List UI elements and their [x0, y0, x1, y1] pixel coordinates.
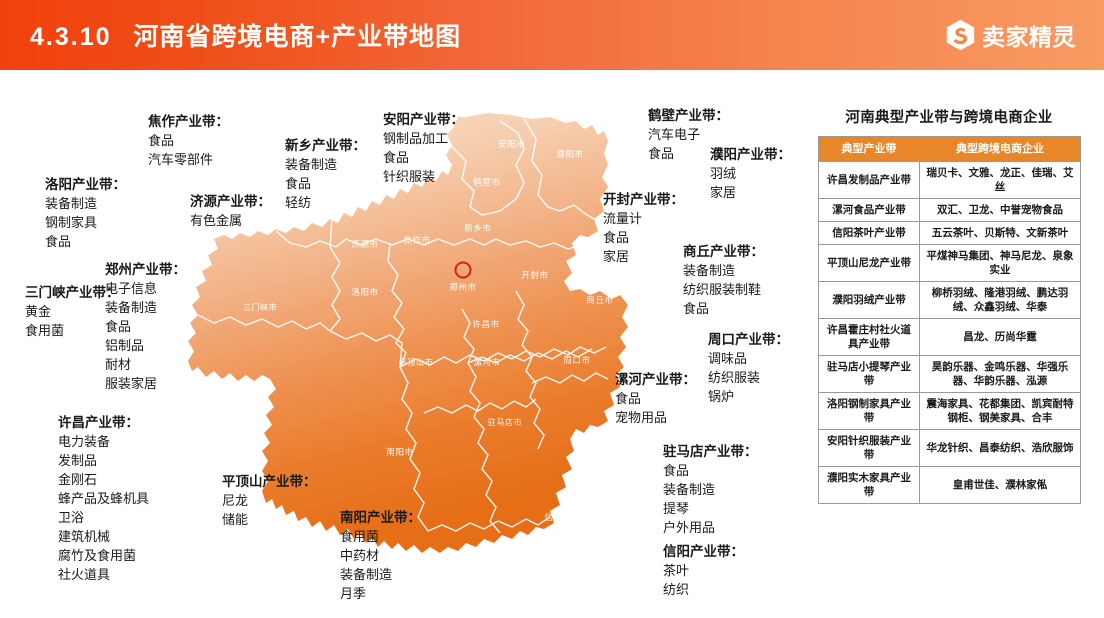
callout-item: 装备制造 [340, 565, 421, 584]
callout-item: 轻纺 [285, 193, 366, 212]
map-city-label: 开封市 [521, 270, 548, 280]
callout-item: 服装家居 [105, 374, 186, 393]
table-row: 许昌发制品产业带瑞贝卡、文雅、龙正、佳瑞、艾丝 [819, 162, 1081, 199]
callout-title: 鹤壁产业带： [648, 106, 729, 125]
industry-belt-table: 典型产业带 典型跨境电商企业 许昌发制品产业带瑞贝卡、文雅、龙正、佳瑞、艾丝漯河… [818, 136, 1081, 504]
callout-item: 装备制造 [683, 261, 764, 280]
callout-title: 信阳产业带： [663, 542, 744, 561]
callout-item: 蜂产品及蜂机具 [58, 489, 149, 508]
callout-item: 中药材 [340, 546, 421, 565]
brand-logo: 卖家精灵 [946, 18, 1076, 52]
callout-item: 纺织服装 [708, 368, 789, 387]
callout-item: 有色金属 [190, 211, 271, 230]
callout-item: 月季 [340, 584, 421, 603]
map-city-label: 商丘市 [586, 295, 613, 305]
callout-puyang: 濮阳产业带：羽绒家居 [710, 145, 791, 202]
callout-title: 洛阳产业带： [45, 175, 126, 194]
callout-title: 开封产业带： [603, 190, 684, 209]
callout-item: 装备制造 [663, 480, 758, 499]
callout-title: 郑州产业带： [105, 260, 186, 279]
callout-title: 商丘产业带： [683, 242, 764, 261]
callout-title: 驻马店产业带： [663, 442, 758, 461]
callout-item: 调味品 [708, 349, 789, 368]
map-city-label: 南阳市 [386, 447, 413, 457]
cell-enterprises: 五云茶叶、贝斯特、文新茶叶 [920, 222, 1081, 245]
cell-enterprises: 昊韵乐器、金鸣乐器、华强乐器、华韵乐器、泓源 [920, 356, 1081, 393]
title-text: 河南省跨境电商+产业带地图 [134, 23, 462, 51]
table-row: 驻马店小提琴产业带昊韵乐器、金鸣乐器、华强乐器、华韵乐器、泓源 [819, 356, 1081, 393]
callout-luoyang: 洛阳产业带：装备制造钢制家具食品 [45, 175, 126, 251]
callout-title: 三门峡产业带： [25, 283, 120, 302]
callout-item: 食品 [148, 131, 229, 150]
cell-industry-belt: 平顶山尼龙产业带 [819, 245, 920, 282]
callout-sanmenxia: 三门峡产业带：黄金食用菌 [25, 283, 120, 340]
cell-industry-belt: 许昌霍庄村社火道具产业带 [819, 319, 920, 356]
callout-item: 食品 [383, 148, 464, 167]
section-number: 4.3.10 [30, 23, 112, 51]
cell-industry-belt: 驻马店小提琴产业带 [819, 356, 920, 393]
map-city-label: 信阳市 [544, 512, 571, 522]
callout-item: 汽车电子 [648, 125, 729, 144]
callout-item: 食品 [663, 461, 758, 480]
hexagon-s-icon [946, 19, 975, 51]
map-city-label: 鹤壁市 [473, 177, 500, 187]
callout-item: 社火道具 [58, 565, 149, 584]
callout-title: 焦作产业带： [148, 112, 229, 131]
callout-item: 腐竹及食用菌 [58, 546, 149, 565]
callout-nanyang: 南阳产业带：食用菌中药材装备制造月季 [340, 508, 421, 603]
callout-pingdingshan: 平顶山产业带：尼龙储能 [222, 472, 317, 529]
callout-item: 电力装备 [58, 432, 149, 451]
callout-item: 纺织 [663, 580, 744, 599]
callout-title: 南阳产业带： [340, 508, 421, 527]
map-city-label: 洛阳市 [351, 287, 378, 297]
brand-name: 卖家精灵 [982, 18, 1076, 52]
callout-shangqiu: 商丘产业带：装备制造纺织服装制鞋食品 [683, 242, 764, 318]
column-header-enterprises: 典型跨境电商企业 [920, 137, 1081, 162]
callout-title: 濮阳产业带： [710, 145, 791, 164]
callout-item: 流量计 [603, 209, 684, 228]
table-row: 许昌霍庄村社火道具产业带昌龙、历尚华霆 [819, 319, 1081, 356]
cell-enterprises: 昌龙、历尚华霆 [920, 319, 1081, 356]
cell-enterprises: 震海家具、花都集团、凯宾耐特钢柜、钢美家具、合丰 [920, 393, 1081, 430]
map-city-label: 濮阳市 [556, 149, 583, 159]
callout-anyang: 安阳产业带：钢制品加工食品针织服装 [383, 110, 464, 186]
callout-item: 针织服装 [383, 167, 464, 186]
cell-industry-belt: 许昌发制品产业带 [819, 162, 920, 199]
callout-item: 食用菌 [25, 321, 120, 340]
callout-luohe: 漯河产业带：食品宠物用品 [615, 370, 696, 427]
cell-enterprises: 华龙针织、昌泰纺织、浩欣服饰 [920, 430, 1081, 467]
callout-item: 装备制造 [45, 194, 126, 213]
map-city-label: 新乡市 [464, 223, 491, 233]
table-body: 许昌发制品产业带瑞贝卡、文雅、龙正、佳瑞、艾丝漯河食品产业带双汇、卫龙、中誉宠物… [819, 162, 1081, 504]
callout-item: 尼龙 [222, 491, 317, 510]
cell-industry-belt: 安阳针织服装产业带 [819, 430, 920, 467]
cell-enterprises: 柳桥羽绒、隆港羽绒、鹏达羽绒、众鑫羽绒、华泰 [920, 282, 1081, 319]
callout-item: 羽绒 [710, 164, 791, 183]
map-city-label: 三门峡市 [243, 302, 277, 312]
callout-item: 储能 [222, 510, 317, 529]
cell-industry-belt: 信阳茶叶产业带 [819, 222, 920, 245]
callout-item: 食用菌 [340, 527, 421, 546]
page-title: 4.3.10河南省跨境电商+产业带地图 [30, 17, 461, 53]
map-city-label: 漯河市 [473, 357, 500, 367]
callout-item: 食品 [603, 228, 684, 247]
callout-item: 黄金 [25, 302, 120, 321]
callout-jiaozuo: 焦作产业带：食品汽车零部件 [148, 112, 229, 169]
map-city-label: 周口市 [563, 355, 590, 365]
cell-enterprises: 平煤神马集团、神马尼龙、泉象实业 [920, 245, 1081, 282]
industry-belt-table-panel: 河南典型产业带与跨境电商企业 典型产业带 典型跨境电商企业 许昌发制品产业带瑞贝… [818, 106, 1080, 504]
callout-item: 汽车零部件 [148, 150, 229, 169]
callout-item: 发制品 [58, 451, 149, 470]
callout-item: 食品 [285, 174, 366, 193]
cell-enterprises: 双汇、卫龙、中誉宠物食品 [920, 199, 1081, 222]
callout-item: 金刚石 [58, 470, 149, 489]
callout-kaifeng: 开封产业带：流量计食品家居 [603, 190, 684, 266]
callout-item: 纺织服装制鞋 [683, 280, 764, 299]
callout-title: 安阳产业带： [383, 110, 464, 129]
callout-item: 提琴 [663, 499, 758, 518]
callout-item: 钢制品加工 [383, 129, 464, 148]
cell-industry-belt: 濮阳羽绒产业带 [819, 282, 920, 319]
callout-item: 食品 [45, 232, 126, 251]
callout-jiyuan: 济源产业带：有色金属 [190, 192, 271, 230]
map-city-label: 郑州市 [449, 282, 476, 292]
callout-xuchang: 许昌产业带：电力装备发制品金刚石蜂产品及蜂机具卫浴建筑机械腐竹及食用菌社火道具 [58, 413, 149, 584]
callout-item: 钢制家具 [45, 213, 126, 232]
callout-item: 食品 [683, 299, 764, 318]
map-city-label: 平顶山市 [399, 357, 433, 367]
callout-item: 茶叶 [663, 561, 744, 580]
map-city-label: 许昌市 [472, 319, 499, 329]
callout-item: 家居 [603, 247, 684, 266]
callout-xinyang: 信阳产业带：茶叶纺织 [663, 542, 744, 599]
callout-title: 许昌产业带： [58, 413, 149, 432]
callout-item: 装备制造 [285, 155, 366, 174]
column-header-belt: 典型产业带 [819, 137, 920, 162]
page-header: 4.3.10河南省跨境电商+产业带地图 卖家精灵 [0, 0, 1104, 70]
table-header-row: 典型产业带 典型跨境电商企业 [819, 137, 1081, 162]
callout-item: 卫浴 [58, 508, 149, 527]
callout-zhoukou: 周口产业带：调味品纺织服装锅炉 [708, 330, 789, 406]
map-city-label: 驻马店市 [488, 417, 522, 427]
callout-item: 家居 [710, 183, 791, 202]
callout-zhumadian: 驻马店产业带：食品装备制造提琴户外用品 [663, 442, 758, 537]
cell-industry-belt: 漯河食品产业带 [819, 199, 920, 222]
callout-item: 户外用品 [663, 518, 758, 537]
callout-xinxiang: 新乡产业带：装备制造食品轻纺 [285, 136, 366, 212]
callout-title: 新乡产业带： [285, 136, 366, 155]
table-row: 濮阳实木家具产业带皇甫世佳、濮林家俬 [819, 467, 1081, 504]
callout-item: 宠物用品 [615, 408, 696, 427]
callout-title: 漯河产业带： [615, 370, 696, 389]
callout-title: 周口产业带： [708, 330, 789, 349]
callout-item: 锅炉 [708, 387, 789, 406]
map-city-label: 济源市 [351, 239, 378, 249]
map-city-label: 焦作市 [403, 235, 430, 245]
table-row: 安阳针织服装产业带华龙针织、昌泰纺织、浩欣服饰 [819, 430, 1081, 467]
callout-item: 建筑机械 [58, 527, 149, 546]
cell-enterprises: 皇甫世佳、濮林家俬 [920, 467, 1081, 504]
callout-item: 耐材 [105, 355, 186, 374]
cell-enterprises: 瑞贝卡、文雅、龙正、佳瑞、艾丝 [920, 162, 1081, 199]
callout-item: 食品 [615, 389, 696, 408]
table-row: 平顶山尼龙产业带平煤神马集团、神马尼龙、泉象实业 [819, 245, 1081, 282]
cell-industry-belt: 濮阳实木家具产业带 [819, 467, 920, 504]
table-row: 洛阳钢制家具产业带震海家具、花都集团、凯宾耐特钢柜、钢美家具、合丰 [819, 393, 1081, 430]
cell-industry-belt: 洛阳钢制家具产业带 [819, 393, 920, 430]
table-row: 信阳茶叶产业带五云茶叶、贝斯特、文新茶叶 [819, 222, 1081, 245]
panel-title: 河南典型产业带与跨境电商企业 [818, 106, 1080, 127]
map-city-label: 安阳市 [498, 139, 525, 149]
callout-title: 平顶山产业带： [222, 472, 317, 491]
table-row: 濮阳羽绒产业带柳桥羽绒、隆港羽绒、鹏达羽绒、众鑫羽绒、华泰 [819, 282, 1081, 319]
callout-title: 济源产业带： [190, 192, 271, 211]
table-row: 漯河食品产业带双汇、卫龙、中誉宠物食品 [819, 199, 1081, 222]
